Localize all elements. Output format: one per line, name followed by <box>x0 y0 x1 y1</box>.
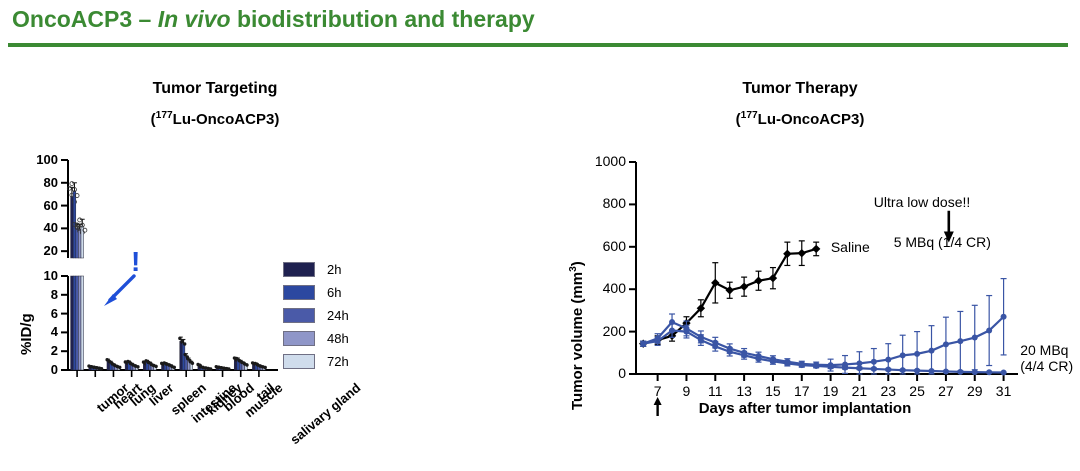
bar-ytick-6: 6 <box>0 306 58 321</box>
title-divider <box>8 43 1068 47</box>
title-italic-part: In vivo <box>158 6 231 32</box>
line-ytick-1000: 1000 <box>570 153 626 169</box>
line-ytick-400: 400 <box>570 280 626 296</box>
line-xtick-17: 17 <box>786 383 818 399</box>
legend-label-48h: 48h <box>327 331 349 346</box>
legend-item-24h: 24h <box>283 304 349 327</box>
tumor-therapy-panel: Tumor Therapy (177Lu-OncoACP3) Tumor vol… <box>540 80 1080 470</box>
line-xtick-23: 23 <box>872 383 904 399</box>
bar-ytick-4: 4 <box>0 324 58 339</box>
title-part-2: biodistribution and therapy <box>231 6 535 32</box>
legend-swatch-48h <box>283 331 315 346</box>
line-ytick-0: 0 <box>570 365 626 381</box>
bar-ytick-2: 2 <box>0 343 58 358</box>
tumor-therapy-chart <box>540 80 1080 470</box>
legend-label-2h: 2h <box>327 262 341 277</box>
bar-ytick-10: 10 <box>0 268 58 283</box>
legend-item-72h: 72h <box>283 350 349 373</box>
bar-ytick-20: 20 <box>0 243 58 258</box>
legend-label-72h: 72h <box>327 354 349 369</box>
bar-chart-legend: 2h6h24h48h72h <box>283 258 349 373</box>
bar-ytick-8: 8 <box>0 287 58 302</box>
legend-swatch-6h <box>283 285 315 300</box>
legend-swatch-72h <box>283 354 315 369</box>
bar-ytick-0: 0 <box>0 362 58 377</box>
legend-label-6h: 6h <box>327 285 341 300</box>
legend-item-2h: 2h <box>283 258 349 281</box>
line-ytick-800: 800 <box>570 195 626 211</box>
line-xtick-15: 15 <box>757 383 789 399</box>
legend-item-6h: 6h <box>283 281 349 304</box>
legend-swatch-24h <box>283 308 315 323</box>
line-xtick-21: 21 <box>843 383 875 399</box>
line-xtick-11: 11 <box>699 383 731 399</box>
tumor-targeting-panel: Tumor Targeting (177Lu-OncoACP3) %ID/g !… <box>0 80 430 470</box>
line-xtick-25: 25 <box>901 383 933 399</box>
page-title: OncoACP3 – In vivo biodistribution and t… <box>12 6 535 33</box>
legend-item-48h: 48h <box>283 327 349 350</box>
legend-label-24h: 24h <box>327 308 349 323</box>
line-xtick-7: 7 <box>642 383 674 399</box>
line-xtick-13: 13 <box>728 383 760 399</box>
line-ytick-600: 600 <box>570 238 626 254</box>
bar-ytick-40: 40 <box>0 220 58 235</box>
line-xtick-9: 9 <box>670 383 702 399</box>
bar-ytick-100: 100 <box>0 152 58 167</box>
title-part-1: OncoACP3 – <box>12 6 158 32</box>
line-xtick-29: 29 <box>959 383 991 399</box>
line-xtick-31: 31 <box>988 383 1020 399</box>
line-xtick-27: 27 <box>930 383 962 399</box>
line-xtick-19: 19 <box>815 383 847 399</box>
bar-ytick-80: 80 <box>0 175 58 190</box>
legend-swatch-2h <box>283 262 315 277</box>
bar-ytick-60: 60 <box>0 198 58 213</box>
line-ytick-200: 200 <box>570 323 626 339</box>
